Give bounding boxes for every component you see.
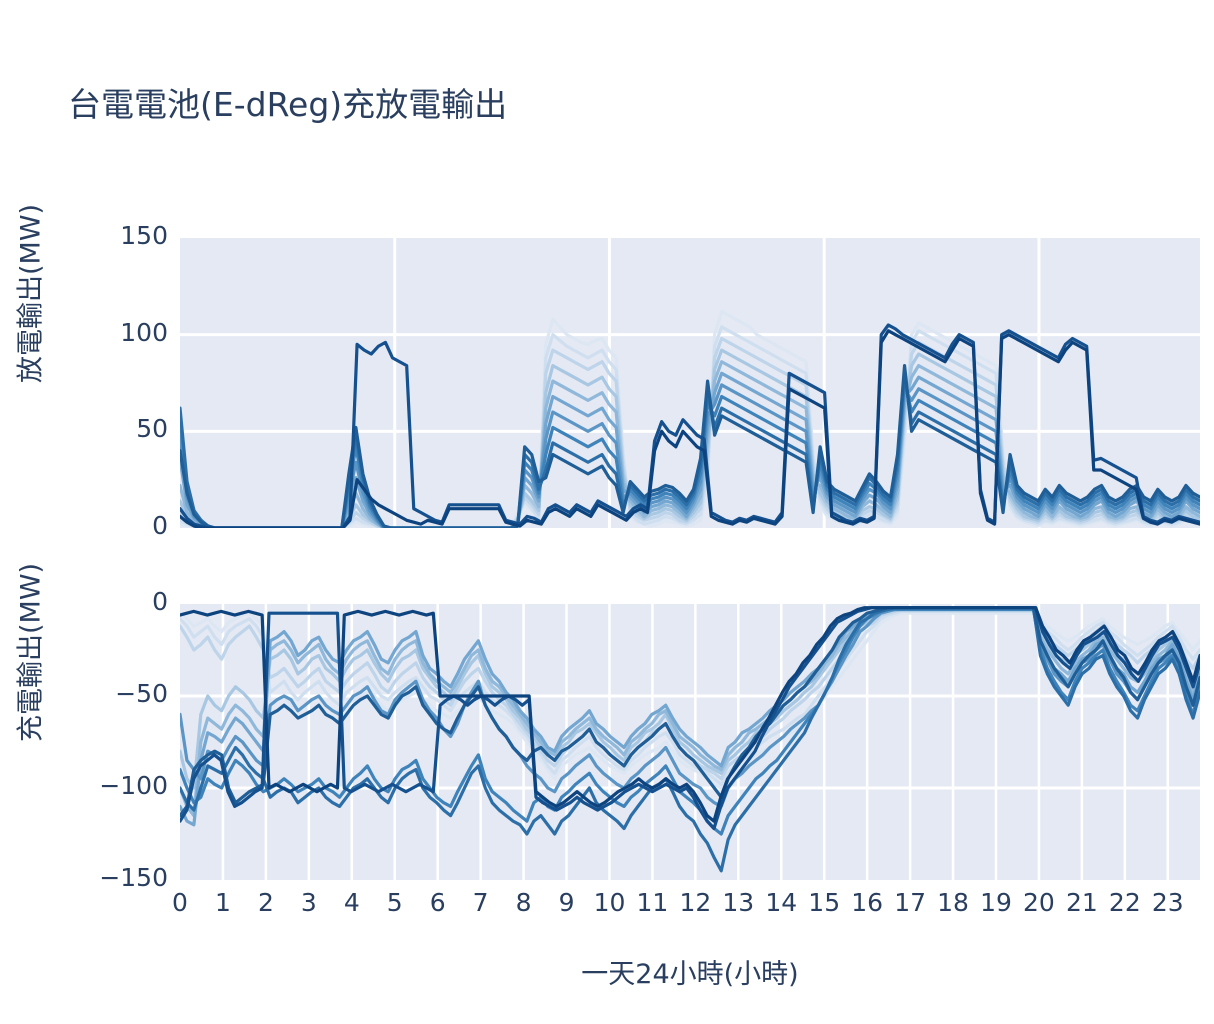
y-tick-label: 0 xyxy=(152,511,168,540)
y-tick-label: 0 xyxy=(152,587,168,616)
y-tick-label: 100 xyxy=(120,318,168,347)
y-tick-label: −100 xyxy=(99,771,168,800)
y-tick-label: −50 xyxy=(115,679,168,708)
chart-title: 台電電池(E-dReg)充放電輸出 xyxy=(68,78,507,126)
x-axis-title: 一天24小時(小時) xyxy=(180,952,1200,991)
plot-area-discharge xyxy=(180,238,1200,528)
x-tick-label: 23 xyxy=(1143,888,1193,917)
y-tick-label: 150 xyxy=(120,221,168,250)
plot-area-charge xyxy=(180,604,1200,880)
chart-figure: 台電電池(E-dReg)充放電輸出 放電輸出(MW) 充電輸出(MW) 一天24… xyxy=(0,0,1214,1024)
y-tick-label: 50 xyxy=(136,414,168,443)
